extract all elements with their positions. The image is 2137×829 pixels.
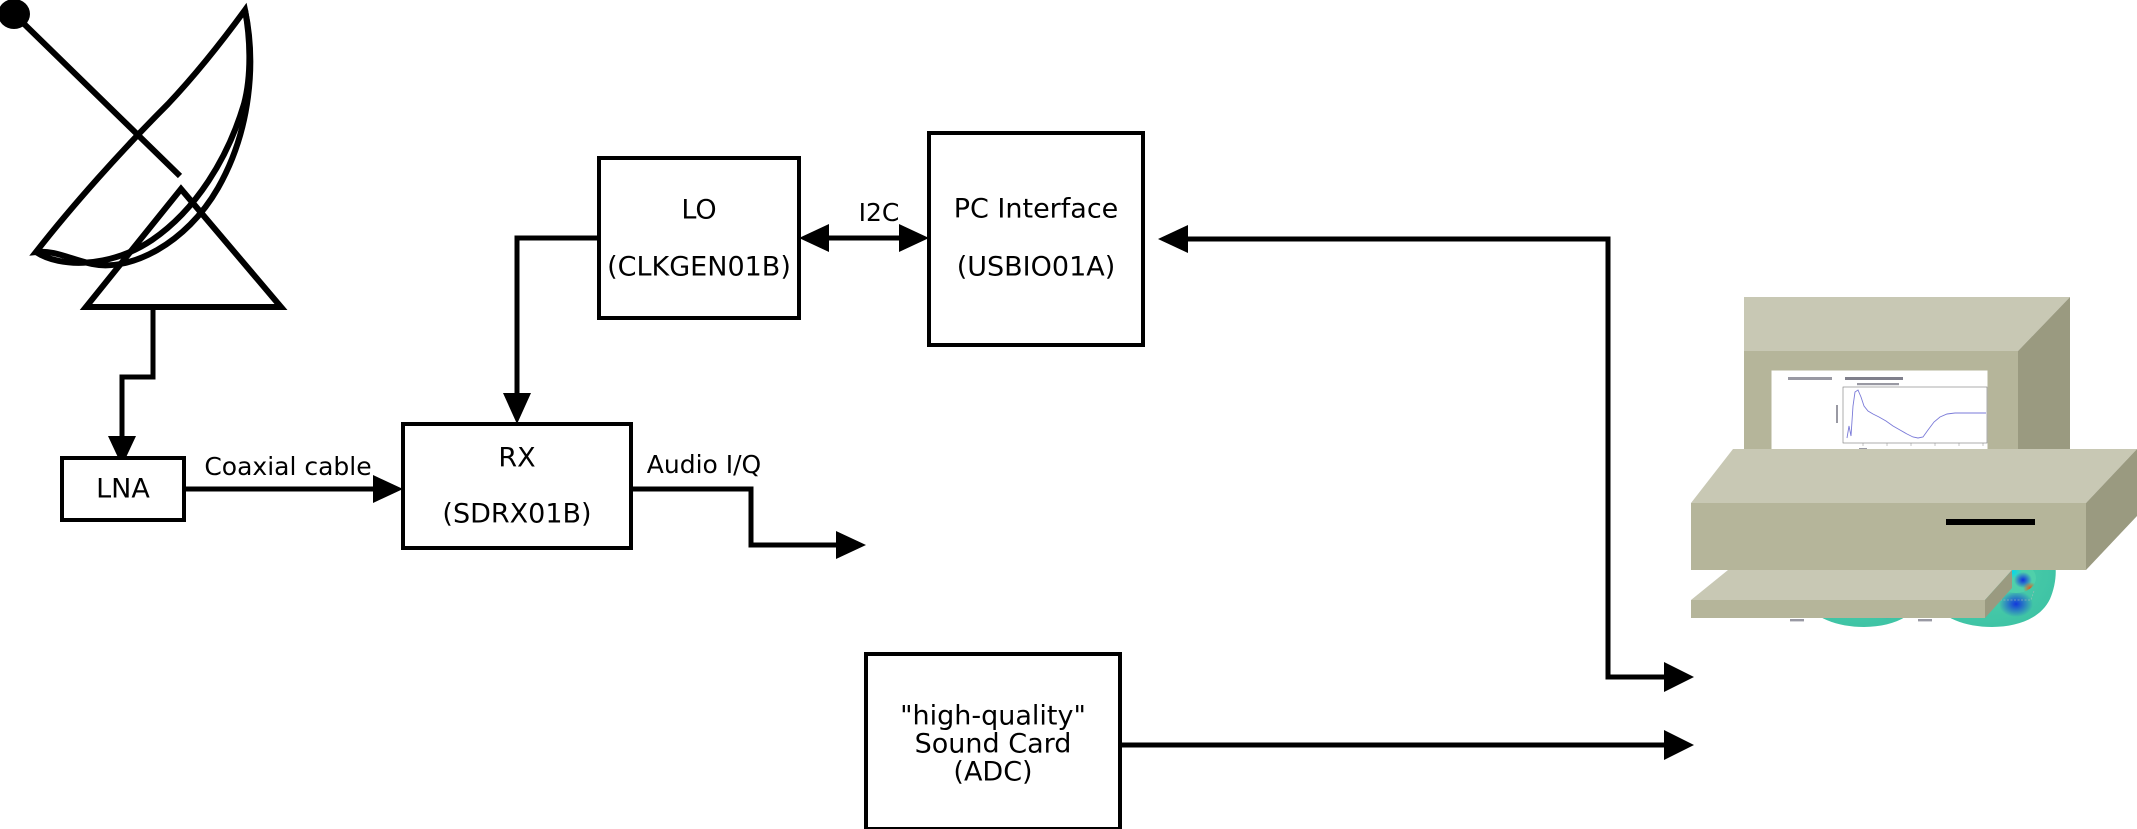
arrowhead-into-computer-upper (1664, 662, 1694, 692)
figure-blob-right-caption (1918, 619, 1932, 621)
edge-label-i2c: I2C (859, 198, 900, 227)
block-lna[interactable]: LNA (62, 458, 184, 520)
figure-lineplot-frame (1843, 387, 1987, 443)
antenna-tripod-mount (86, 189, 281, 307)
block-lo-label-line2: (CLKGEN01B) (607, 252, 791, 283)
block-rx[interactable]: RX (SDRX01B) (403, 424, 631, 548)
wire-soundcard-to-computer (1120, 730, 1694, 760)
figure-blob-left-caption (1790, 619, 1804, 621)
arrowhead-into-soundcard (836, 531, 866, 559)
block-soundcard-line2: Sound Card (915, 729, 1072, 760)
edge-label-coaxial-cable: Coaxial cable (204, 452, 371, 481)
block-soundcard-line1: "high-quality" (900, 701, 1086, 732)
figure-panel1-title (1788, 377, 1832, 380)
case-front-face (1691, 503, 2086, 570)
block-diagram: LNA Coaxial cable RX (SDRX01B) LO (CLKGE… (0, 0, 2137, 829)
case-top-face (1691, 449, 2137, 503)
wire-rx-to-soundcard: Audio I/Q (631, 450, 866, 559)
arrowhead-i2c-left (799, 224, 829, 252)
block-rx-label-line2: (SDRX01B) (442, 499, 591, 530)
wire-lo-to-rx (503, 238, 599, 424)
arrowhead-into-rx-left (373, 475, 403, 503)
feed-support-arm (18, 18, 180, 176)
keyboard-front-face (1691, 600, 1985, 618)
figure-title-text (1845, 377, 1903, 380)
arrowhead-into-computer-lower (1664, 730, 1694, 760)
figure-lineplot-ylabel (1836, 405, 1838, 423)
wire-lna-to-rx: Coaxial cable (184, 452, 403, 503)
wire-antenna-to-lna (108, 307, 153, 466)
figure-subtitle-text (1857, 383, 1899, 385)
block-lna-label: LNA (96, 474, 150, 505)
block-lo[interactable]: LO (CLKGEN01B) (599, 158, 799, 318)
block-lo-rect[interactable] (599, 158, 799, 318)
monitor-top-face (1744, 297, 2070, 351)
block-rx-label-line1: RX (498, 443, 535, 474)
arrowhead-into-pc-interface-right (1158, 225, 1188, 253)
wire-computer-to-pc-interface (1158, 225, 1694, 692)
block-soundcard-line3: (ADC) (953, 757, 1032, 788)
edge-label-audio-iq: Audio I/Q (647, 450, 761, 479)
block-pc-interface-label-line1: PC Interface (954, 194, 1119, 225)
arrowhead-i2c-right (899, 224, 929, 252)
parabolic-dish-antenna (0, 0, 281, 307)
block-pc-interface-label-line2: (USBIO01A) (957, 252, 1116, 283)
wire-lo-to-pc-interface-i2c: I2C (799, 198, 929, 252)
keyboard-top-face[interactable] (1691, 570, 2012, 600)
block-pc-interface-rect[interactable] (929, 133, 1143, 345)
arrowhead-into-rx-top (503, 393, 531, 424)
block-lo-label-line1: LO (681, 195, 716, 226)
drive-slot[interactable] (1946, 519, 2035, 525)
block-soundcard[interactable]: "high-quality" "high-quality" Sound Card… (866, 654, 1120, 829)
diagram-canvas: LNA Coaxial cable RX (SDRX01B) LO (CLKGE… (0, 0, 2137, 829)
desktop-computer[interactable] (1691, 297, 2137, 635)
block-pc-interface[interactable]: PC Interface (USBIO01A) (929, 133, 1143, 345)
